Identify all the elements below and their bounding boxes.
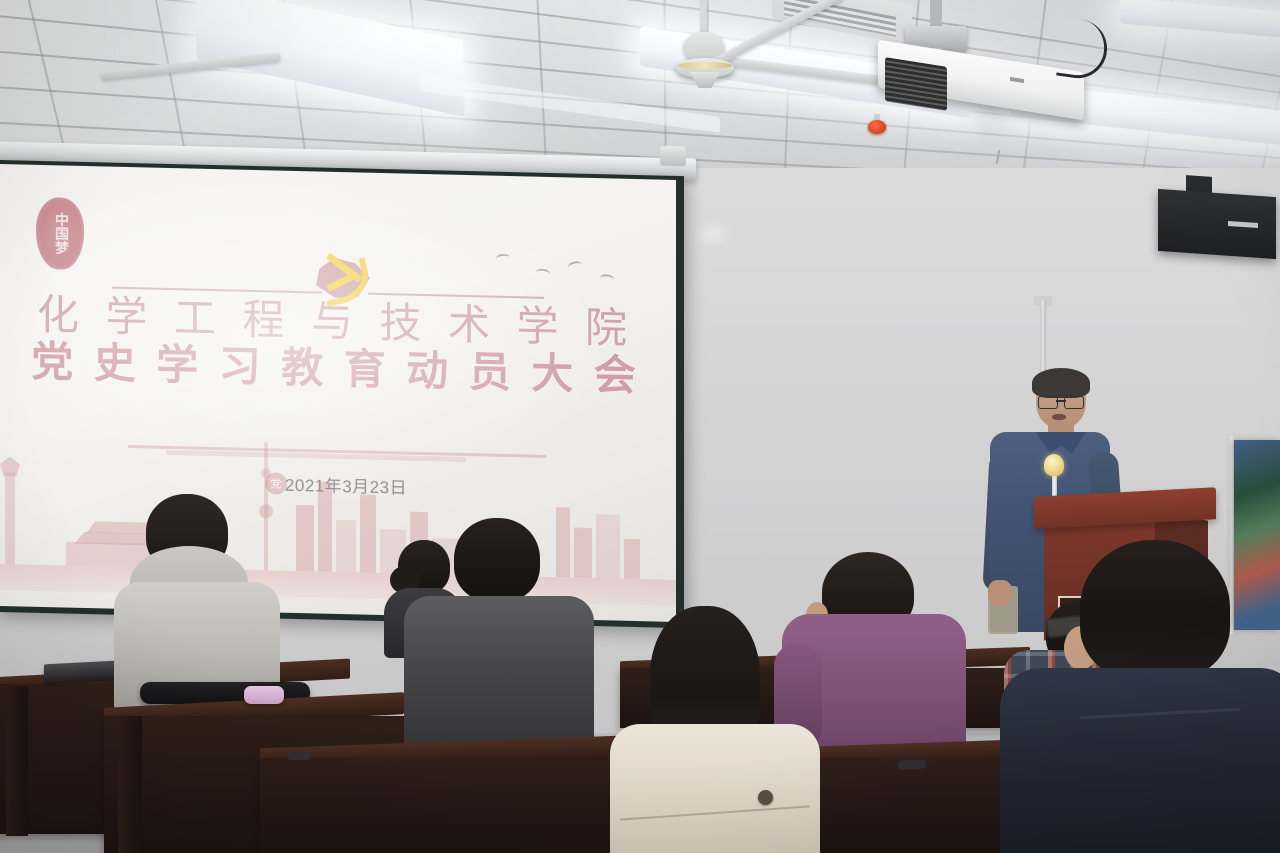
bird-icon — [567, 260, 583, 272]
slide-title-block: 化 学 工 程 与 技 术 学 院 党 史 学 习 教 育 动 员 大 会 — [0, 292, 676, 402]
presenter-hair — [1032, 368, 1090, 398]
microphone-icon — [1044, 454, 1064, 476]
cpc-emblem-icon — [312, 255, 374, 304]
attendee-navy-hoodie — [1040, 540, 1280, 853]
photo-scene: 中国梦 化 学 工 程 与 技 术 学 院 党 史 学 习 教 育 动 员 大 … — [0, 0, 1280, 853]
title-rule-right — [368, 293, 544, 299]
ceiling-fan-rod — [700, 0, 707, 36]
pink-pencil-case — [244, 686, 284, 704]
fire-sprinkler-icon — [868, 120, 886, 134]
skyline-building — [296, 505, 314, 571]
wall-mark — [700, 228, 726, 240]
screen-roller-end-cap — [660, 146, 686, 167]
chinese-dream-seal-icon: 中国梦 — [36, 197, 84, 270]
seal-text: 中国梦 — [53, 212, 67, 254]
attendee-cream-jacket — [640, 606, 860, 853]
bird-icon — [600, 274, 615, 284]
ceiling-fan-ring — [678, 62, 732, 69]
attendee-head — [454, 518, 540, 602]
attendee-grey-hoodie — [118, 494, 288, 714]
skyline-building — [624, 539, 640, 579]
jacket-button — [758, 790, 773, 805]
desk-leg — [6, 686, 28, 836]
skyline-building — [336, 520, 356, 572]
desk-leg — [118, 716, 142, 853]
attendee-torso — [610, 724, 820, 853]
attendee-torso — [1000, 668, 1280, 853]
mobile-phone-on-desk — [288, 752, 310, 760]
mobile-phone-on-desk — [898, 760, 926, 770]
monument-landmark — [0, 452, 20, 564]
title-rule-left — [112, 287, 322, 294]
desk — [260, 758, 620, 853]
bird-icon — [536, 268, 551, 279]
presenter-hand — [988, 580, 1012, 606]
eyeglasses-icon — [1038, 396, 1084, 407]
skyline-building — [360, 494, 376, 572]
presenter-mouth — [1052, 414, 1066, 420]
bird-icon — [495, 253, 510, 264]
attendee-head — [1080, 540, 1230, 680]
wall-speaker — [1158, 189, 1276, 259]
skyline-building — [318, 482, 332, 572]
